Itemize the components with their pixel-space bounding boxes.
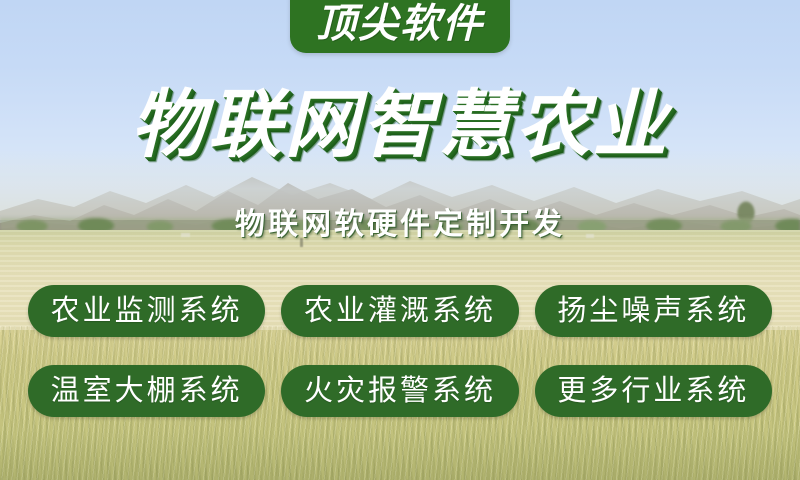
service-pill-label: 扬尘噪声系统	[557, 297, 749, 326]
service-pill-agriculture-monitoring[interactable]: 农业监测系统	[28, 285, 265, 337]
service-pill-label: 更多行业系统	[557, 377, 749, 406]
brand-badge-label: 顶尖软件	[316, 4, 484, 44]
service-pill-agriculture-irrigation[interactable]: 农业灌溉系统	[281, 285, 518, 337]
headline-text: 物联网智慧农业	[131, 88, 670, 162]
headline: 物联网智慧农业	[0, 88, 800, 162]
brand-badge: 顶尖软件	[290, 0, 510, 53]
service-pill-more-industries[interactable]: 更多行业系统	[535, 365, 772, 417]
subtitle: 物联网软硬件定制开发	[0, 210, 800, 240]
service-pill-label: 火灾报警系统	[304, 377, 496, 406]
service-pill-grid: 农业监测系统 农业灌溉系统 扬尘噪声系统 温室大棚系统 火灾报警系统 更多行业系…	[28, 285, 772, 417]
service-pill-dust-noise[interactable]: 扬尘噪声系统	[535, 285, 772, 337]
service-pill-label: 农业灌溉系统	[304, 297, 496, 326]
subtitle-text: 物联网软硬件定制开发	[235, 210, 565, 240]
service-pill-fire-alarm[interactable]: 火灾报警系统	[281, 365, 518, 417]
banner-content: 顶尖软件 物联网智慧农业 物联网软硬件定制开发 农业监测系统 农业灌溉系统 扬尘…	[0, 0, 800, 480]
service-pill-label: 温室大棚系统	[51, 377, 243, 406]
service-pill-label: 农业监测系统	[51, 297, 243, 326]
service-pill-greenhouse[interactable]: 温室大棚系统	[28, 365, 265, 417]
promo-banner: 顶尖软件 物联网智慧农业 物联网软硬件定制开发 农业监测系统 农业灌溉系统 扬尘…	[0, 0, 800, 480]
